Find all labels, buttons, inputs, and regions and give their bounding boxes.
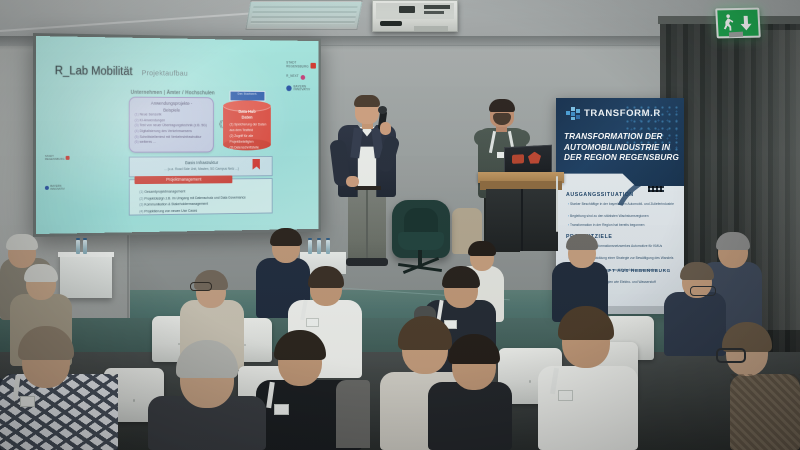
bottle-cap	[83, 238, 87, 240]
logo-line: INNOVATIV	[293, 89, 310, 93]
audience-member-torso	[664, 292, 726, 356]
logo-line: R_NEXT	[286, 75, 299, 79]
name-badge	[558, 390, 573, 401]
banner-section-heading-1: AUSGANGSSITUATION	[566, 192, 634, 198]
side-table-left	[60, 254, 112, 298]
microphone-head-icon	[378, 106, 387, 114]
laptop-sticker	[528, 151, 541, 164]
list-marker: (2)	[135, 118, 139, 122]
conference-room-photo: R_Lab Mobilität Projektaufbau STADT REGE…	[0, 0, 800, 450]
logo-line: INNOVATIV	[50, 188, 64, 191]
basis-infrastruktur-title: Basis Infrastruktur	[130, 160, 272, 166]
projector-detail	[424, 5, 450, 9]
list-marker: (2)	[139, 196, 143, 200]
bayern-innovativ-mark-icon	[286, 86, 291, 92]
air-vent-glow	[246, 2, 363, 28]
bayern-innovativ-mark-icon	[45, 186, 49, 190]
eyeglasses-icon	[690, 286, 716, 296]
slide-logo-group: STADT REGENSBURG R_NEXT BAYERN INNOVATIV	[286, 62, 318, 99]
audience-member-hair	[468, 241, 496, 256]
list-item: weiteres ...	[140, 140, 156, 144]
list-item: Zugriff für alle Projektbeteiligten	[230, 134, 254, 144]
list-marker: (3)	[230, 145, 234, 149]
name-badge	[306, 318, 319, 327]
audience-member-shoulder	[336, 380, 370, 448]
basis-infrastruktur-subtitle: ... (u.a. Road Side Unit, Masten, 5G Cam…	[130, 167, 272, 172]
speaker-at-lectern-hair	[489, 99, 515, 112]
logo-stadt-regensburg: STADT REGENSBURG	[286, 62, 318, 70]
armchair-seat	[398, 232, 444, 250]
lectern-cable	[556, 176, 558, 232]
bottle-cap	[317, 238, 321, 240]
bottle-cap	[308, 238, 312, 240]
laptop-sticker	[512, 154, 524, 164]
list-marker: (3)	[139, 203, 143, 207]
r-next-mark-icon	[301, 75, 305, 80]
logo-bayern-innovativ: BAYERN INNOVATIV	[286, 85, 318, 92]
water-bottle	[326, 240, 330, 254]
data-hub-list: (1) Speicherung der Daten aus dem Testfe…	[230, 122, 271, 151]
bottle-cap	[76, 238, 80, 240]
applications-list: (1) Neue Sensorik (2) KI-Anwendungen (3)…	[135, 112, 207, 145]
water-bottle	[317, 240, 321, 254]
projektmanagement-list: (1) Gesamtprojektmanagement (2) Projektd…	[139, 188, 245, 215]
projection-screen: R_Lab Mobilität Projektaufbau STADT REGE…	[36, 36, 319, 234]
audience-member-torso	[428, 382, 512, 450]
bottle-cap	[326, 238, 330, 240]
list-item: Neue Sensorik	[140, 112, 162, 116]
audience-member-hair	[24, 264, 58, 282]
list-marker: (1)	[139, 190, 143, 194]
projektmanagement-header: Projektmanagement	[135, 175, 233, 184]
standing-speaker-right-hand	[380, 122, 391, 135]
list-item: Kommunikation & Stakeholdermanagement	[144, 202, 208, 207]
list-marker: (4)	[139, 209, 143, 213]
banner-list-item: › Transformation in der Region hat berei…	[568, 223, 676, 228]
transform-r-logo-icon	[566, 106, 582, 121]
standing-speaker-shoes	[346, 258, 388, 266]
eyeglasses-icon	[190, 282, 212, 291]
list-item: Speicherung der Daten aus dem Testfeld	[230, 122, 267, 132]
projector-lens-icon	[380, 21, 402, 26]
belt	[355, 186, 381, 190]
eyeglasses-icon	[716, 348, 746, 363]
water-bottle	[83, 240, 87, 254]
stadtwerk-badge-label: Das Stadtwerk.	[230, 93, 264, 97]
banner-list-item: › Begleitung sind zu den stärksten Wachs…	[568, 214, 676, 219]
list-item: Schnittstellentest mit Verkehrsinfrastru…	[140, 135, 202, 139]
patterned-sweater	[730, 374, 800, 450]
list-item: KI-Anwendungen	[140, 118, 166, 122]
logo-line: REGENSBURG	[45, 158, 65, 161]
list-marker: (1)	[230, 122, 234, 126]
slide-logo-bayern-innovativ-left: BAYERN INNOVATIV	[45, 185, 65, 192]
slide-title-group: R_Lab Mobilität Projektaufbau	[55, 61, 188, 80]
projector-detail	[424, 11, 444, 14]
projektmanagement-header-label: Projektmanagement	[135, 177, 233, 183]
basis-infrastruktur-bar: Basis Infrastruktur ... (u.a. Road Side …	[129, 156, 273, 177]
exit-sign-bracket	[729, 32, 743, 38]
standing-speaker-hair	[354, 95, 380, 107]
name-badge	[20, 396, 35, 407]
audience-member-hair	[680, 262, 714, 280]
list-marker: (2)	[230, 134, 234, 138]
standing-speaker-leg-split	[366, 190, 368, 264]
page-title: R_Lab Mobilität	[55, 65, 133, 78]
list-item: Datenschnittstelle	[234, 145, 259, 149]
list-item: Projektdesign z.B. im Umgang mit Datensc…	[144, 195, 245, 200]
audience-member-hair	[270, 228, 302, 246]
stadt-regensburg-mark-icon	[311, 63, 316, 69]
projector-mount	[414, 26, 448, 31]
list-marker: (3)	[135, 124, 139, 128]
water-bottle	[308, 240, 312, 254]
list-item: Gesamtprojektmanagement	[144, 189, 185, 193]
list-item: Digitalisierung des Verkehrswesens	[140, 129, 192, 133]
banner-headline: TRANSFORMATION DER AUTOMOBILINDUSTRIE IN…	[564, 132, 680, 164]
down-arrow-icon	[738, 14, 755, 32]
presenter-laptop[interactable]	[504, 145, 552, 176]
audience-member-hair	[566, 234, 598, 250]
projector-detail	[399, 6, 415, 13]
slide-stakeholder-header: Unternehmen | Ämter / Hochschulen	[131, 90, 215, 97]
running-man-icon	[720, 13, 735, 32]
water-bottle	[76, 240, 80, 254]
list-marker: (4)	[135, 129, 139, 133]
standing-speaker-left-hand	[346, 176, 359, 187]
applications-box: Anwendungsprojekte - Beispiele (1) Neue …	[129, 97, 214, 153]
projektmanagement-box: Projektmanagement (1) Gesamtprojektmanag…	[129, 178, 273, 216]
logo-r-next: R_NEXT	[286, 74, 318, 79]
stadt-regensburg-mark-icon	[66, 156, 70, 160]
logo-line: REGENSBURG	[286, 65, 308, 69]
data-hub-cylinder: Data Hub Daten (1) Speicherung der Daten…	[223, 100, 271, 150]
name-badge	[274, 404, 289, 415]
list-item: Projektierung von neuen Use Cases	[144, 209, 197, 214]
list-item: Test von neuer Übertragungstechnik (z.B.…	[140, 124, 207, 128]
slide-subtitle: Projektaufbau	[142, 68, 188, 77]
lectern-panel-split	[521, 189, 523, 251]
list-marker: (1)	[135, 112, 139, 116]
list-marker: (5)	[135, 135, 139, 139]
data-hub-subtitle: Daten	[223, 115, 271, 121]
banner-brand-label: TRANSFORM.R	[584, 108, 661, 119]
banner-list-item: › Starker Beschäftige in der bayerischen…	[568, 202, 676, 207]
slide-logo-stadt-regensburg-left: STADT REGENSBURG	[45, 155, 70, 161]
list-marker: (6)	[135, 140, 139, 144]
audience-member-hair	[6, 234, 38, 250]
audience-member-hair	[716, 232, 750, 250]
